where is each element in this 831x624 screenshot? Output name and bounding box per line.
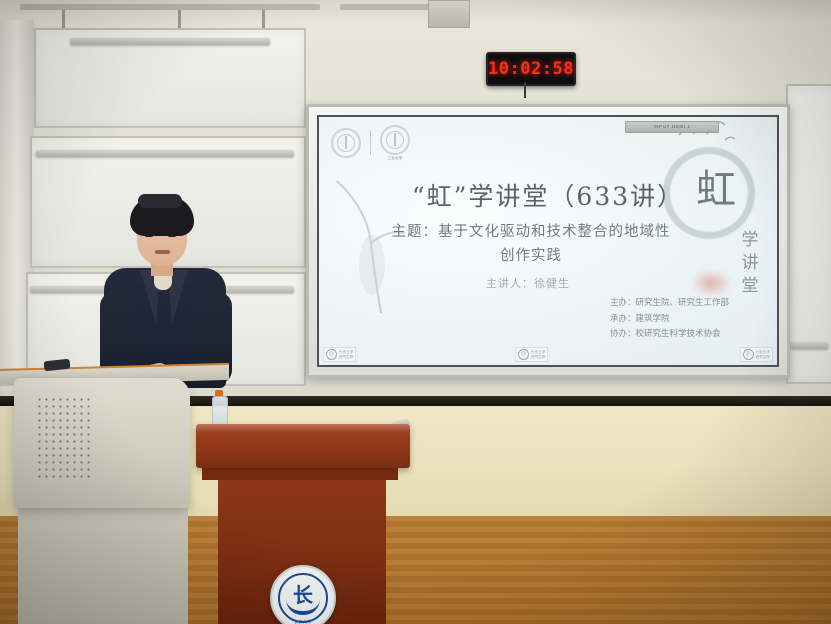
slide-subtitle-line2: 创作实践 <box>341 245 721 269</box>
podium-university-emblem: 长 长安大学 <box>270 565 336 624</box>
projector-mount <box>428 0 470 28</box>
whiteboard-rail <box>36 150 294 157</box>
seal-caption: 工业大学 <box>380 156 410 161</box>
clock-time: 10:02:58 <box>488 59 574 79</box>
presentation-slide: 虹 学 讲 堂 工业大学 INPUT H <box>319 117 777 365</box>
watermark-text: 长安大学 研究生院 <box>531 350 545 359</box>
slide-watermark: ◎ 长安大学 研究生院 <box>323 347 356 362</box>
watermark-text: 长安大学 研究生院 <box>339 350 353 359</box>
organizer-line-2: 承办：建筑学院 <box>610 312 729 328</box>
slide-watermark: ◎ 长安大学 研究生院 <box>515 347 548 362</box>
organizer-line-3: 协办：校研究生科学技术协会 <box>610 327 729 343</box>
seal-glyph <box>380 125 410 155</box>
whiteboard-rail <box>70 38 270 45</box>
slide-subtitle-line1: 主题：基于文化驱动和技术整合的地域性 <box>341 221 721 245</box>
projection-screen: 虹 学 讲 堂 工业大学 INPUT H <box>306 104 790 378</box>
speaker-person <box>96 196 236 386</box>
clock-cable <box>524 82 526 98</box>
speaker-grille <box>36 396 94 482</box>
screen-inner-border: 虹 学 讲 堂 工业大学 INPUT H <box>317 115 779 367</box>
podium-lip <box>202 466 398 480</box>
podium-top <box>196 424 410 468</box>
emblem-bottom-text: 长安大学 <box>272 619 334 624</box>
slide-watermark: ◎ 长安大学 研究生院 <box>740 347 773 362</box>
shield-icon: ◎ <box>326 349 337 360</box>
logo-divider <box>370 131 371 155</box>
slide-speaker: 主讲人：徐健生 <box>319 275 737 291</box>
university-seal-left <box>331 128 361 158</box>
slide-title: “虹”学讲堂（633讲） <box>319 177 777 213</box>
slide-organizers: 主办：研究生院、研究生工作部 承办：建筑学院 协办：校研究生科学技术协会 <box>610 296 729 343</box>
slide-subtitle: 主题：基于文化驱动和技术整合的地域性 创作实践 <box>341 221 721 269</box>
slide-logos: 工业大学 <box>331 125 410 161</box>
podium-body: 长 长安大学 <box>218 479 386 624</box>
vertical-char-3: 堂 <box>737 275 763 298</box>
projector-osd-bar: INPUT HDMI 1 <box>625 121 719 133</box>
shield-icon: ◎ <box>743 349 754 360</box>
watermark-text: 长安大学 研究生院 <box>756 350 770 359</box>
whiteboard-right <box>786 84 831 384</box>
vertical-char-2: 讲 <box>737 252 763 275</box>
shield-icon: ◎ <box>518 349 529 360</box>
person-hair <box>130 196 194 236</box>
vertical-calligraphy-column: 学 讲 堂 <box>737 229 763 298</box>
whiteboard-rail <box>790 342 828 349</box>
organizer-line-1: 主办：研究生院、研究生工作部 <box>610 296 729 312</box>
seal-glyph <box>331 128 361 158</box>
university-seal-right: 工业大学 <box>380 125 410 161</box>
led-wall-clock: 10:02:58 <box>486 52 576 86</box>
person-mouth <box>155 250 170 254</box>
wooden-podium: 长 长安大学 <box>196 424 410 624</box>
lecture-hall-photo: 10:02:58 虹 学 讲 <box>0 0 831 624</box>
vertical-char-1: 学 <box>737 229 763 252</box>
ceiling-rail <box>20 4 320 10</box>
